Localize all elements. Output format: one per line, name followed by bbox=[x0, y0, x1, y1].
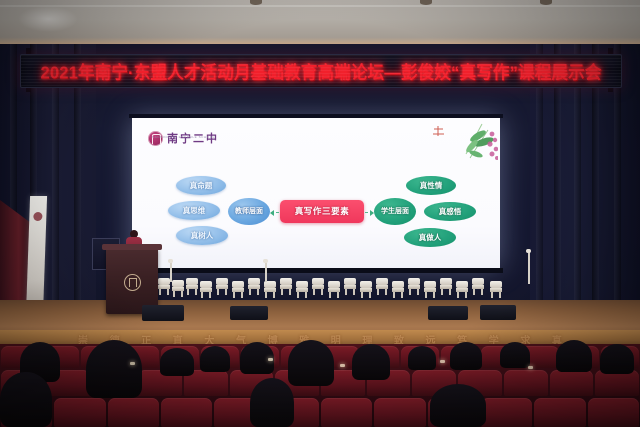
audience-person bbox=[408, 346, 436, 370]
ceiling-spot-icon bbox=[420, 0, 432, 5]
audience-device-glint bbox=[268, 358, 273, 361]
audience-person bbox=[430, 384, 486, 427]
ceiling-spot-icon bbox=[540, 0, 552, 5]
ceiling-light-glow bbox=[18, 6, 78, 32]
audience-person bbox=[600, 344, 634, 374]
screen-bottom-frame bbox=[129, 268, 503, 273]
school-name-sub: NANNING NO.2 MIDDLE SCHOOL bbox=[152, 135, 215, 139]
ceiling-spot-icon bbox=[250, 0, 262, 5]
ceiling-beam bbox=[0, 0, 640, 48]
audience-person bbox=[288, 340, 334, 386]
teacher-item-oval: 真思维 bbox=[168, 201, 220, 220]
slide-diagram: 真命题 真思维 真树人 教师层面 真写作三要素 学生层面 真性情 真感悟 真做人 bbox=[132, 176, 500, 256]
teacher-item-oval: 真命题 bbox=[176, 176, 226, 195]
lectern-emblem-icon bbox=[124, 274, 141, 291]
audience-person bbox=[0, 372, 52, 427]
audience-person bbox=[450, 342, 482, 370]
mic-stand-icon bbox=[170, 262, 172, 282]
audience-person bbox=[86, 340, 142, 398]
arrow-right bbox=[365, 212, 373, 213]
audience-device-glint bbox=[440, 360, 445, 363]
student-layer-node: 学生层面 bbox=[374, 198, 416, 225]
stage-speaker-box bbox=[230, 306, 268, 320]
audience-person bbox=[200, 346, 230, 372]
audience-person bbox=[556, 340, 592, 372]
teacher-item-oval: 真树人 bbox=[176, 226, 228, 245]
teacher-layer-node: 教师层面 bbox=[228, 198, 270, 225]
student-item-oval: 真性情 bbox=[406, 176, 456, 195]
stage-speaker-box bbox=[142, 305, 184, 321]
stage-speaker-box bbox=[428, 306, 468, 320]
student-item-oval: 真感悟 bbox=[424, 202, 476, 221]
mic-stand-icon bbox=[265, 262, 267, 282]
audience-device-glint bbox=[528, 366, 533, 369]
audience-device-glint bbox=[340, 364, 345, 367]
audience-person bbox=[160, 348, 194, 376]
audience-area bbox=[0, 344, 640, 427]
banner-title-text: 2021年南宁·东盟人才活动月基础教育高端论坛—彭俊姣“真写作”课程展示会 bbox=[40, 58, 601, 83]
audience-seat-row-front bbox=[0, 398, 640, 427]
auditorium-scene: 2021年南宁·东盟人才活动月基础教育高端论坛—彭俊姣“真写作”课程展示会 南宁… bbox=[0, 0, 640, 427]
audience-person bbox=[352, 344, 390, 380]
projection-screen: 南宁二中 NANNING NO.2 MIDDLE SCHOOL 真命题 真思 bbox=[132, 118, 500, 268]
audience-person bbox=[250, 378, 294, 427]
stage-speaker-box bbox=[480, 305, 516, 320]
floral-branch-icon bbox=[426, 120, 498, 172]
mic-stand-icon bbox=[528, 252, 530, 284]
audience-person bbox=[500, 342, 530, 368]
student-item-oval: 真做人 bbox=[404, 228, 456, 247]
audience-device-glint bbox=[130, 362, 135, 365]
ceiling-seam bbox=[0, 5, 640, 7]
screen-top-frame bbox=[129, 114, 503, 118]
center-concept-node: 真写作三要素 bbox=[280, 200, 364, 223]
arrow-left bbox=[271, 212, 279, 213]
led-title-banner: 2021年南宁·东盟人才活动月基础教育高端论坛—彭俊姣“真写作”课程展示会 bbox=[20, 54, 622, 88]
